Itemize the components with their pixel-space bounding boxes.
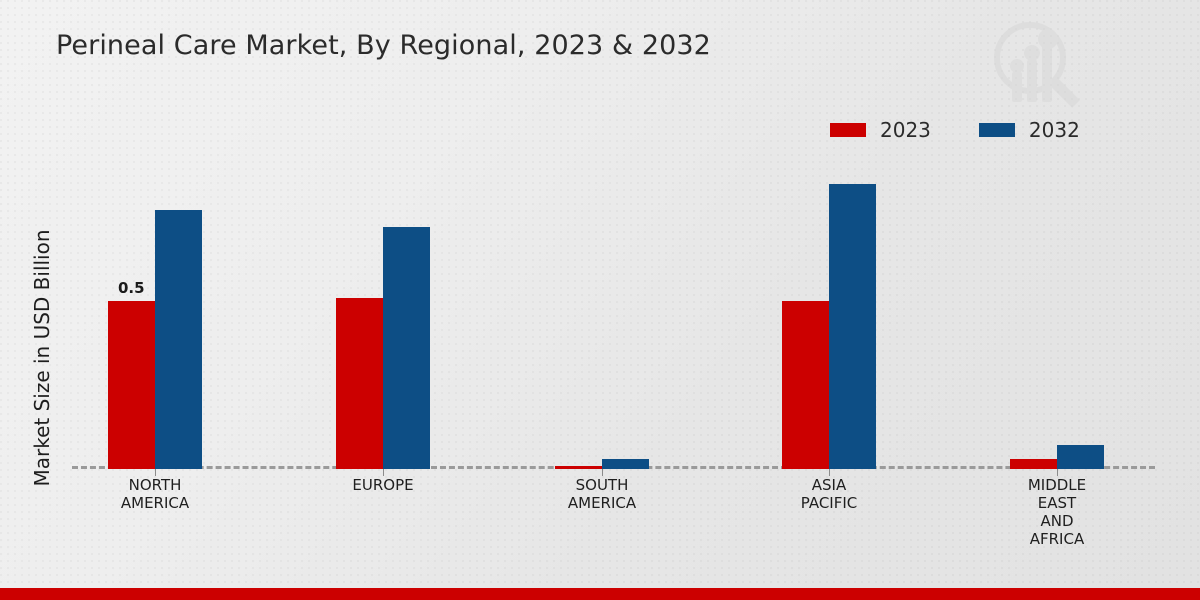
bar-2032-1[interactable]: [383, 227, 430, 469]
footer-band: [0, 588, 1200, 600]
bar-2032-4[interactable]: [1057, 445, 1104, 469]
legend-label-2023: 2023: [880, 120, 931, 140]
chart-title: Perineal Care Market, By Regional, 2023 …: [56, 30, 711, 61]
legend-item-2023[interactable]: 2023: [830, 120, 931, 140]
legend-swatch-2023: [830, 123, 866, 137]
bar-2032-2[interactable]: [602, 459, 649, 469]
watermark-logo-icon: [986, 16, 1084, 112]
plot-area: 0.5: [72, 150, 1155, 469]
x-axis-tick: [383, 469, 384, 476]
x-axis-tick: [602, 469, 603, 476]
category-label: ASIA PACIFIC: [749, 476, 909, 512]
bar-group: [782, 184, 876, 469]
bar-2023-2[interactable]: [555, 466, 602, 469]
bar-2032-0[interactable]: [155, 210, 202, 469]
chart-canvas: Perineal Care Market, By Regional, 2023 …: [0, 0, 1200, 600]
y-axis-title: Market Size in USD Billion: [30, 168, 54, 548]
bar-group: [108, 210, 202, 469]
category-label: MIDDLE EAST AND AFRICA: [977, 476, 1137, 548]
bar-2023-0[interactable]: [108, 301, 155, 469]
x-axis-tick: [829, 469, 830, 476]
bar-2032-3[interactable]: [829, 184, 876, 469]
bar-value-label: 0.5: [118, 279, 145, 297]
x-axis-tick: [155, 469, 156, 476]
legend-label-2032: 2032: [1029, 120, 1080, 140]
category-label: NORTH AMERICA: [75, 476, 235, 512]
bar-group: [1010, 445, 1104, 469]
legend-swatch-2032: [979, 123, 1015, 137]
bar-group: [336, 227, 430, 469]
category-label: EUROPE: [303, 476, 463, 494]
chart-legend: 2023 2032: [830, 120, 1080, 140]
bar-2023-3[interactable]: [782, 301, 829, 469]
category-label: SOUTH AMERICA: [522, 476, 682, 512]
bar-2023-4[interactable]: [1010, 459, 1057, 469]
bar-group: [555, 459, 649, 469]
legend-item-2032[interactable]: 2032: [979, 120, 1080, 140]
x-axis-tick: [1057, 469, 1058, 476]
bar-2023-1[interactable]: [336, 298, 383, 469]
